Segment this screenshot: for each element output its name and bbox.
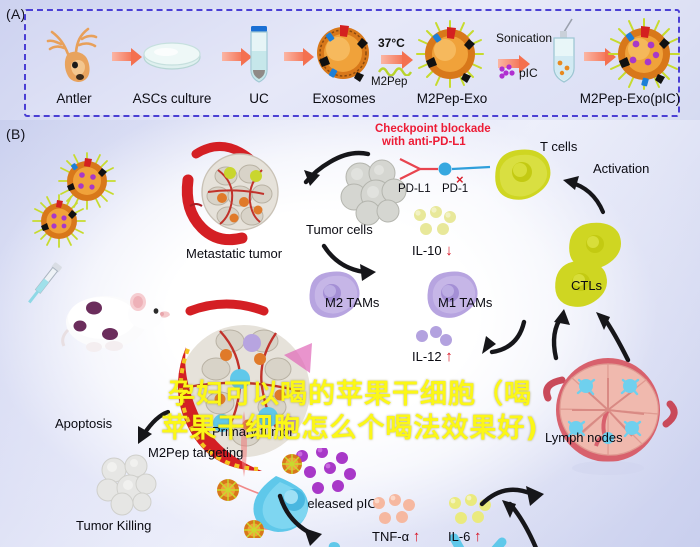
label-lymph-nodes: Lymph nodes <box>545 430 623 445</box>
arrow-exosomes-to-m2pepexo <box>381 55 403 64</box>
cytokine-il-12-label: IL-12 <box>412 349 442 364</box>
label-ctls: CTLs <box>571 278 602 293</box>
panel-b-tag: (B) <box>6 126 26 142</box>
scientific-figure: (A) Antler ASCs culture <box>0 0 700 547</box>
tnf-alpha-cytokine-dots <box>370 494 420 528</box>
cytokine-il-12: IL-12 ↑ <box>412 348 453 365</box>
arrow-culture-to-uc <box>222 52 242 61</box>
panel-a-tag: (A) <box>6 6 26 22</box>
panel-a: (A) Antler ASCs culture <box>0 0 700 120</box>
panel-a-label-antler: Antler <box>34 91 114 106</box>
label-primary-tumor: Primary tumor <box>212 424 294 439</box>
antler-icon <box>42 22 114 88</box>
cytokine-il-10-trend: ↓ <box>445 242 453 259</box>
label-apoptosis: Apoptosis <box>55 416 112 431</box>
peptide-squiggle-icon <box>378 64 414 76</box>
cytokine-il-6: IL-6 ↑ <box>448 528 482 545</box>
label-m1-tams: M1 TAMs <box>438 295 492 310</box>
panel-a-label-uc: UC <box>232 91 286 106</box>
cytokine-tnf-alpha-trend: ↑ <box>413 528 421 545</box>
arrow-sonicator-to-product <box>584 52 606 61</box>
arrow-apoptosis <box>118 408 174 452</box>
exosome-icon <box>310 20 376 86</box>
m2pep-exo-pic-icon <box>606 16 682 92</box>
panel-a-temperature: 37°C <box>378 36 405 50</box>
pic-dots-icon <box>498 64 516 80</box>
cytokine-il-10: IL-10 ↓ <box>412 242 453 259</box>
il-10-cytokine-dots <box>410 205 462 241</box>
lymph-nodes-icon <box>542 352 678 478</box>
petri-dish-icon <box>142 40 202 74</box>
arrow-m1-to-il12 <box>458 316 530 366</box>
panel-a-label-product: M2Pep-Exo(pIC) <box>560 91 700 106</box>
nanoparticle-icon-2 <box>30 192 88 250</box>
arrow-to-lymph-nodes <box>478 482 554 526</box>
centrifuge-tube-icon <box>246 25 272 87</box>
sonicator-tube-icon <box>548 18 580 90</box>
arrow-antler-to-culture <box>112 52 132 61</box>
label-checkpoint-blockade-line2: with anti-PD-L1 <box>382 136 466 149</box>
cytokine-il-6-trend: ↑ <box>474 528 482 545</box>
panel-a-label-exosomes: Exosomes <box>302 91 386 106</box>
cytokine-il-12-trend: ↑ <box>445 348 453 365</box>
arrow-uc-to-exosomes <box>284 52 304 61</box>
label-checkpoint-blockade-line1: Checkpoint blockade <box>375 123 491 136</box>
tumor-killing-icon <box>92 450 162 516</box>
cytokine-il-10-label: IL-10 <box>412 243 442 258</box>
panel-a-label-pic: pIC <box>519 66 538 80</box>
cytokine-tnf-alpha: TNF-α ↑ <box>372 528 420 545</box>
label-tumor-killing: Tumor Killing <box>76 518 151 533</box>
cytokine-tnf-alpha-label: TNF-α <box>372 529 409 544</box>
panel-b: (B) <box>0 120 700 547</box>
label-metastatic-tumor: Metastatic tumor <box>186 246 282 261</box>
label-t-cells: T cells <box>540 139 577 154</box>
il-12-cytokine-dots <box>412 324 456 350</box>
label-m2-tams: M2 TAMs <box>325 295 379 310</box>
label-pd-1: PD-1 <box>442 183 468 195</box>
mouse-icon <box>58 278 170 360</box>
cytokine-il-6-label: IL-6 <box>448 529 470 544</box>
panel-a-label-m2pep: M2Pep <box>371 76 407 88</box>
panel-a-label-m2pepexo: M2Pep-Exo <box>404 91 500 106</box>
panel-a-label-ascs: ASCs culture <box>124 91 220 106</box>
arrow-activation <box>543 168 611 218</box>
m2pep-exo-icon <box>414 18 486 90</box>
label-pd-l1: PD-L1 <box>398 183 431 195</box>
arrow-to-immature-dcs <box>276 492 342 547</box>
metastatic-tumor-icon <box>178 140 296 252</box>
panel-a-label-sonication: Sonication <box>496 31 552 45</box>
